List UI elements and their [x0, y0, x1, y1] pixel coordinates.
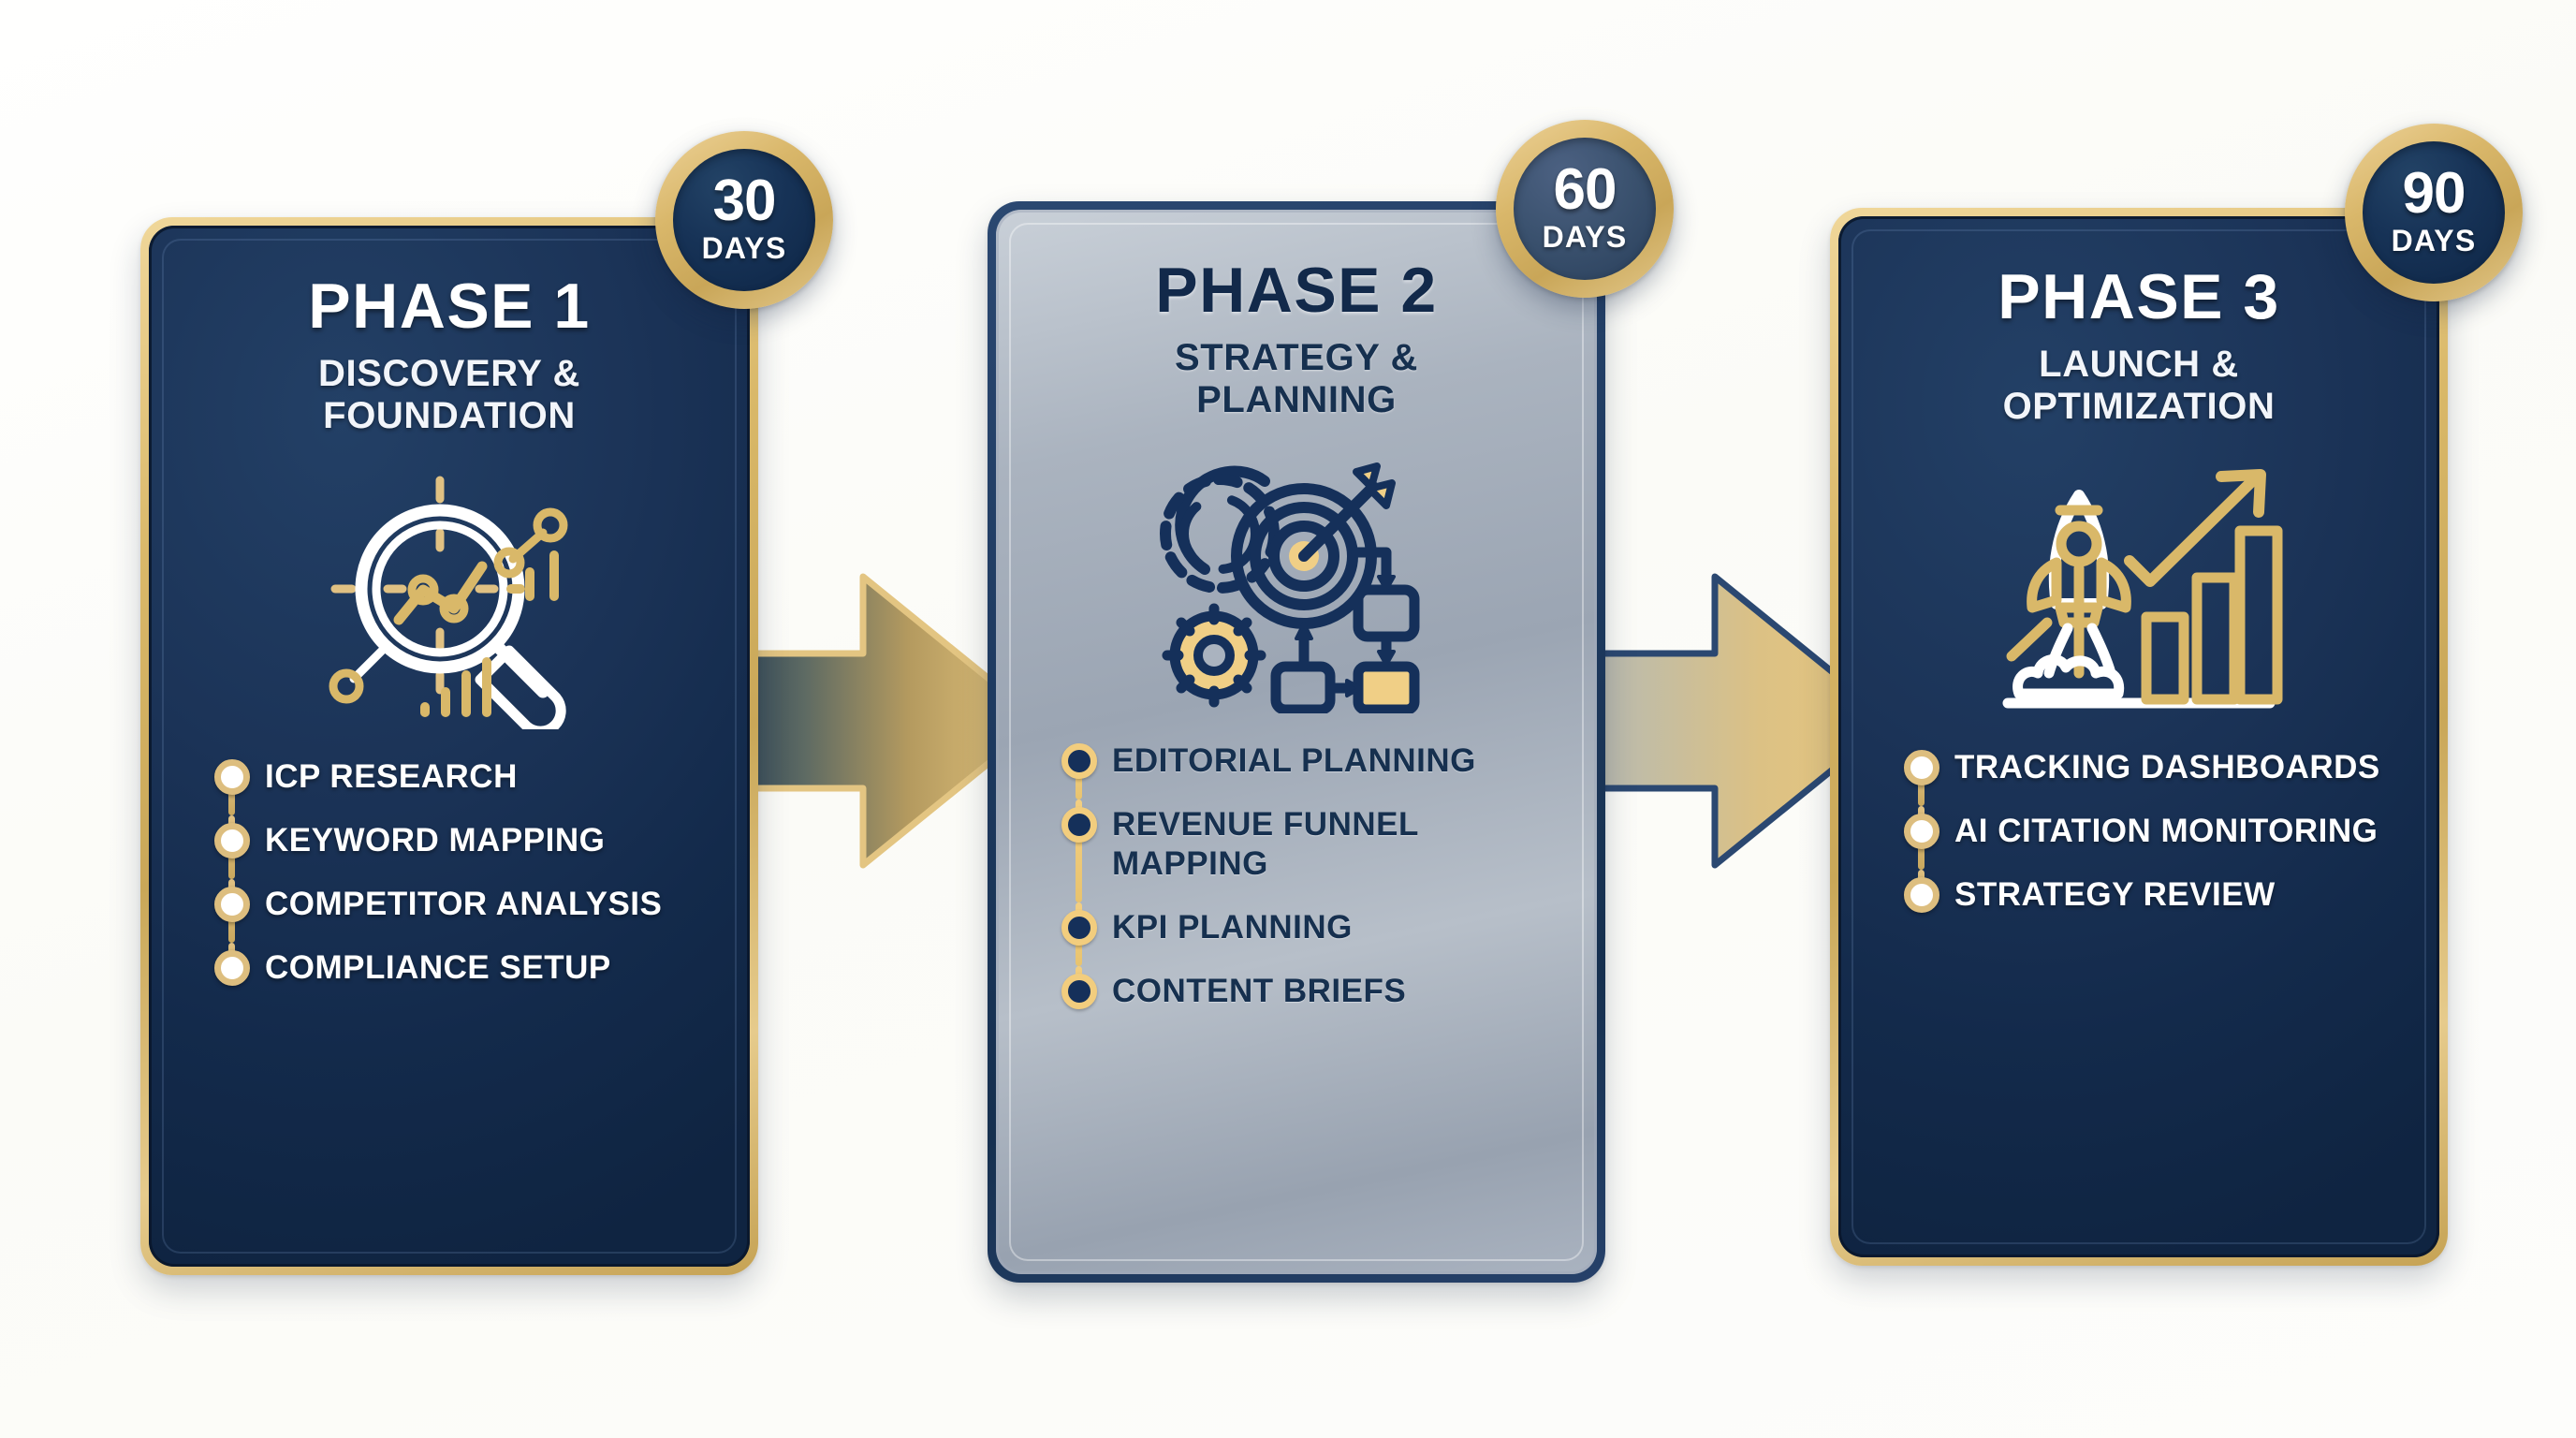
timeline-connector [1896, 870, 1954, 933]
badge-unit: DAYS [2392, 224, 2477, 258]
timeline-connector [1896, 806, 1954, 870]
phase-title: PHASE 2 [1155, 258, 1438, 322]
bullet-dot [1904, 877, 1939, 913]
phase-title: PHASE 1 [308, 274, 591, 338]
list-item-label: KEYWORD MAPPING [265, 815, 605, 879]
list-item[interactable]: EDITORIAL PLANNING [1054, 736, 1559, 800]
timeline-connector [207, 815, 265, 879]
list-item-label: STRATEGY REVIEW [1954, 870, 2276, 933]
phase-subtitle-line1: DISCOVERY & [318, 353, 580, 395]
bullet-dot [1904, 814, 1939, 849]
bullet-dot [1904, 750, 1939, 785]
timeline-connector [207, 943, 265, 1006]
list-item[interactable]: REVENUE FUNNEL MAPPING [1054, 800, 1559, 902]
bullet-dot [214, 823, 250, 858]
list-item[interactable]: STRATEGY REVIEW [1896, 870, 2402, 933]
timeline-connector [1054, 902, 1112, 966]
bullet-dot [1061, 807, 1097, 843]
bullet-dot [214, 759, 250, 795]
phase-card-3[interactable]: PHASE 3 LAUNCH & OPTIMIZATION [1830, 208, 2448, 1266]
list-item-label: REVENUE FUNNEL MAPPING [1112, 800, 1559, 902]
phase-subtitle-line2: OPTIMIZATION [2003, 386, 2276, 428]
list-item[interactable]: TRACKING DASHBOARDS [1896, 742, 2402, 806]
badge-90-days: 90 DAYS [2345, 124, 2523, 301]
list-item[interactable]: COMPLIANCE SETUP [207, 943, 712, 1006]
badge-number: 60 [1554, 163, 1617, 218]
timeline-connector [1054, 736, 1112, 800]
bullet-dot [1061, 910, 1097, 946]
badge-number: 90 [2403, 167, 2466, 222]
bullet-dot [1061, 974, 1097, 1009]
phase-1-checklist: ICP RESEARCH KEYWORD MAPPING [186, 752, 712, 1006]
phase-subtitle-line1: LAUNCH & [2003, 344, 2276, 386]
list-item[interactable]: KEYWORD MAPPING [207, 815, 712, 879]
timeline-connector [1896, 742, 1954, 806]
timeline-connector [1054, 800, 1112, 902]
timeline-connector [1054, 966, 1112, 1030]
timeline-connector [207, 752, 265, 815]
bullet-dot [214, 950, 250, 986]
list-item-label: COMPETITOR ANALYSIS [265, 879, 662, 943]
list-item-label: KPI PLANNING [1112, 902, 1353, 966]
phase-subtitle: DISCOVERY & FOUNDATION [318, 353, 580, 437]
list-item-label: EDITORIAL PLANNING [1112, 736, 1476, 800]
list-item[interactable]: CONTENT BRIEFS [1054, 966, 1559, 1030]
list-item[interactable]: COMPETITOR ANALYSIS [207, 879, 712, 943]
phase-subtitle-line2: FOUNDATION [318, 395, 580, 437]
badge-60-days: 60 DAYS [1496, 120, 1674, 298]
phase-subtitle: STRATEGY & PLANNING [1175, 337, 1418, 421]
rocket-growth-chart-icon [1989, 448, 2289, 729]
phase-subtitle-line2: PLANNING [1175, 379, 1418, 421]
bullet-dot [1061, 743, 1097, 779]
list-item-label: ICP RESEARCH [265, 752, 518, 815]
magnifier-analytics-icon [309, 458, 590, 739]
list-item-label: COMPLIANCE SETUP [265, 943, 611, 1006]
list-item-label: TRACKING DASHBOARDS [1954, 742, 2380, 806]
badge-30-days: 30 DAYS [655, 131, 833, 309]
list-item[interactable]: AI CITATION MONITORING [1896, 806, 2402, 870]
phase-title: PHASE 3 [1998, 265, 2280, 329]
phase-subtitle: LAUNCH & OPTIMIZATION [2003, 344, 2276, 428]
phase-card-1[interactable]: PHASE 1 DISCOVERY & FOUNDATION [140, 217, 758, 1275]
list-item-label: AI CITATION MONITORING [1954, 806, 2378, 870]
gear-target-workflow-icon [1156, 442, 1437, 723]
list-item[interactable]: KPI PLANNING [1054, 902, 1559, 966]
phase-2-checklist: EDITORIAL PLANNING REVENUE FUNNEL MAPPIN… [1033, 736, 1559, 1030]
phase-3-checklist: TRACKING DASHBOARDS AI CITATION MONITORI… [1876, 742, 2402, 933]
badge-number: 30 [713, 174, 776, 229]
infographic-canvas: PHASE 1 DISCOVERY & FOUNDATION [0, 0, 2576, 1438]
list-item-label: CONTENT BRIEFS [1112, 966, 1406, 1030]
badge-unit: DAYS [1543, 220, 1628, 255]
bullet-dot [214, 887, 250, 922]
phase-card-2[interactable]: PHASE 2 STRATEGY & PLANNING [988, 201, 1605, 1283]
badge-unit: DAYS [702, 231, 787, 266]
timeline-connector [207, 879, 265, 943]
phase-subtitle-line1: STRATEGY & [1175, 337, 1418, 379]
list-item[interactable]: ICP RESEARCH [207, 752, 712, 815]
